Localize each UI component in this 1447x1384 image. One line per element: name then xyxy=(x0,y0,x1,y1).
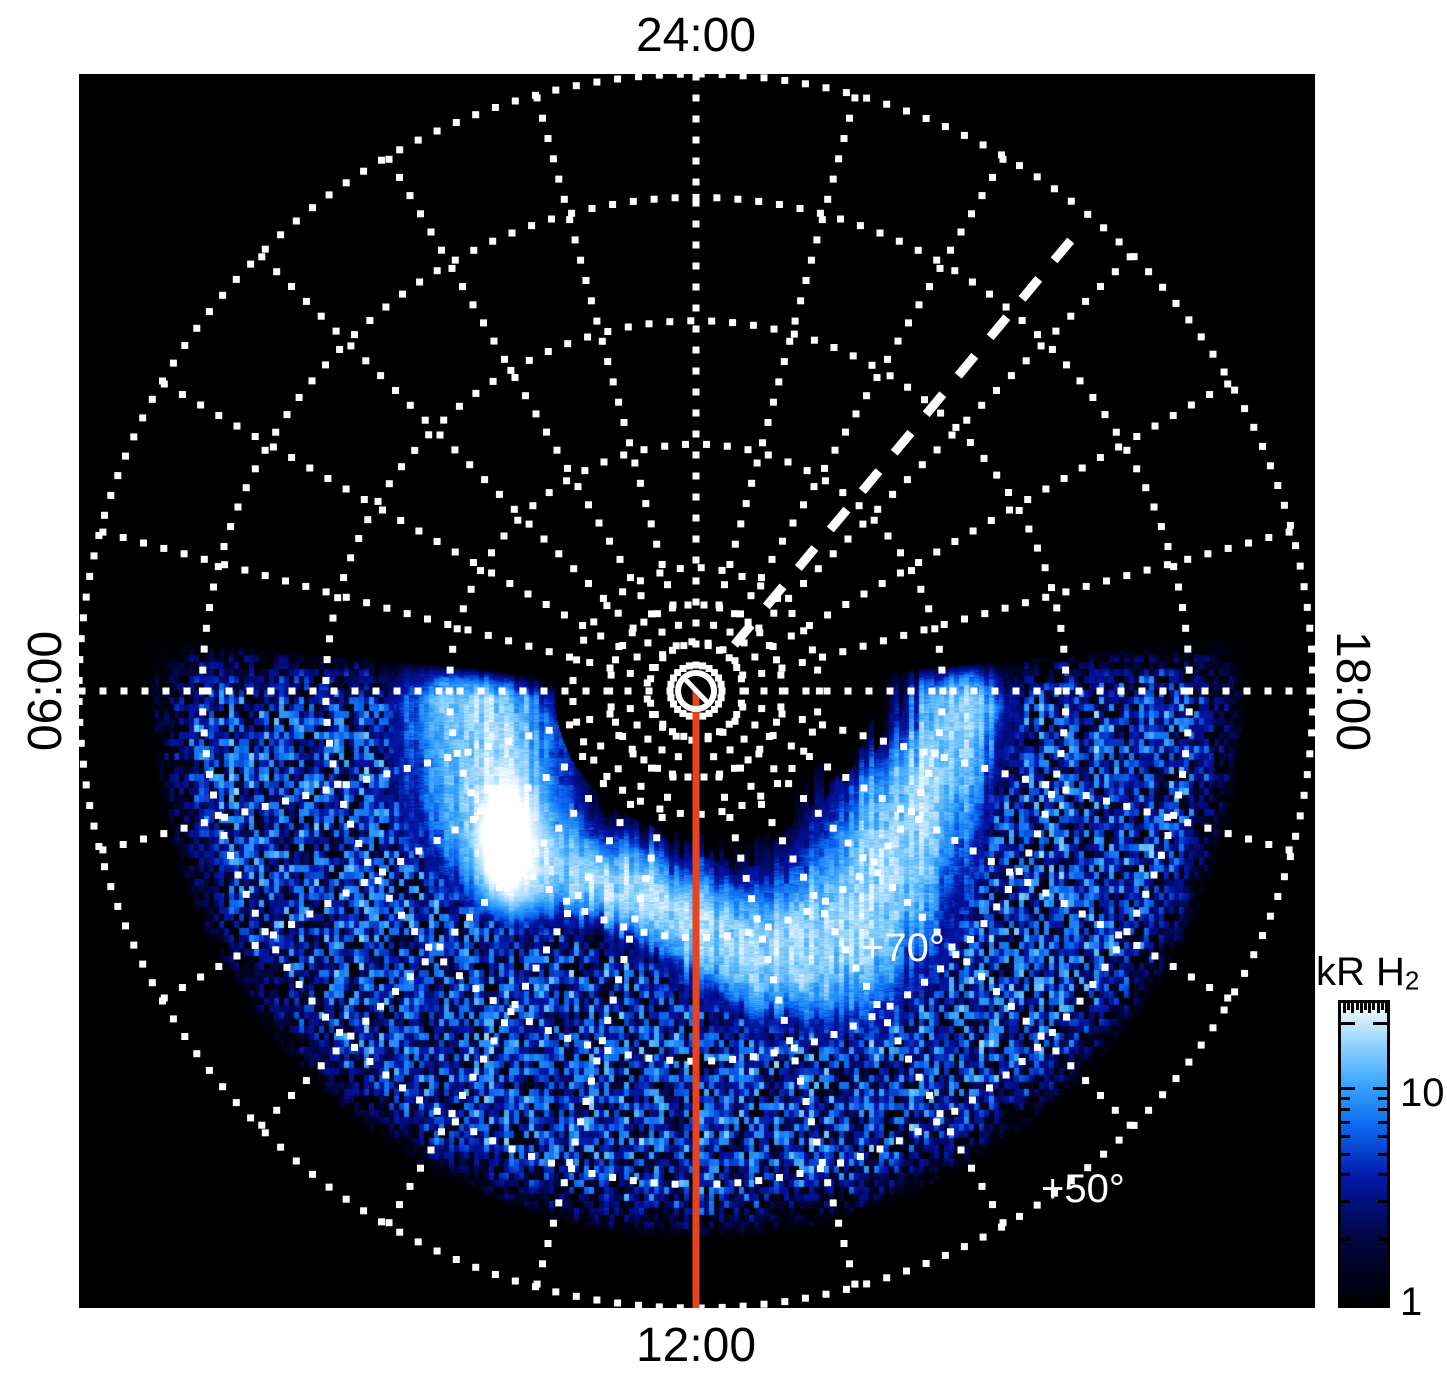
latitude-label-70: +70° xyxy=(861,928,945,968)
colorbar-top-ticks xyxy=(1341,1003,1387,1013)
colorbar-title-text: kR H xyxy=(1316,950,1405,994)
colorbar-tick-mark xyxy=(1378,1200,1387,1203)
colorbar-tick-mark xyxy=(1378,1135,1387,1138)
colorbar-tick-mark xyxy=(1378,1097,1387,1100)
mlt-label-bottom: 12:00 xyxy=(636,1322,756,1370)
colorbar-title-subscript: 2 xyxy=(1405,966,1419,996)
colorbar-tick-mark xyxy=(1373,1022,1387,1025)
colorbar-tick-mark xyxy=(1373,1087,1387,1090)
colorbar-tick-mark xyxy=(1341,1238,1350,1241)
colorbar-tick-mark xyxy=(1341,1097,1350,1100)
colorbar-tick-mark xyxy=(1341,1304,1355,1307)
colorbar-tick-10: 10 xyxy=(1400,1073,1445,1113)
colorbar-tick-mark xyxy=(1341,1121,1350,1124)
colorbar-tick-mark xyxy=(1378,1173,1387,1176)
colorbar-tick-mark xyxy=(1378,1108,1387,1111)
colorbar-tick-1: 1 xyxy=(1400,1282,1422,1322)
colorbar-tick-mark xyxy=(1341,1173,1350,1176)
colorbar-tick-mark xyxy=(1341,1135,1350,1138)
colorbar-tick-mark xyxy=(1341,1087,1355,1090)
colorbar-tick-mark xyxy=(1341,1108,1350,1111)
colorbar-tick-mark xyxy=(1341,1200,1350,1203)
latitude-label-50: +50° xyxy=(1041,1169,1125,1209)
colorbar-tick-mark xyxy=(1341,1153,1350,1156)
mlt-label-left: 06:00 xyxy=(22,631,70,751)
colorbar-gradient[interactable] xyxy=(1338,1000,1390,1308)
colorbar-tick-mark xyxy=(1341,1022,1355,1025)
colorbar-tick-mark xyxy=(1373,1304,1387,1307)
polar-grid-overlay xyxy=(79,74,1315,1308)
figure-root: 24:00 12:00 06:00 18:00 +70° +50° kR H2 … xyxy=(0,0,1447,1384)
colorbar-tick-mark xyxy=(1378,1153,1387,1156)
colorbar-title: kR H2 xyxy=(1316,952,1419,994)
colorbar-tick-mark xyxy=(1378,1238,1387,1241)
mlt-label-right: 18:00 xyxy=(1328,631,1376,751)
dashed-reference-track xyxy=(734,241,1070,645)
polar-plot-panel[interactable]: +70° +50° xyxy=(79,74,1315,1308)
mlt-label-top: 24:00 xyxy=(636,12,756,60)
colorbar-tick-mark xyxy=(1378,1121,1387,1124)
